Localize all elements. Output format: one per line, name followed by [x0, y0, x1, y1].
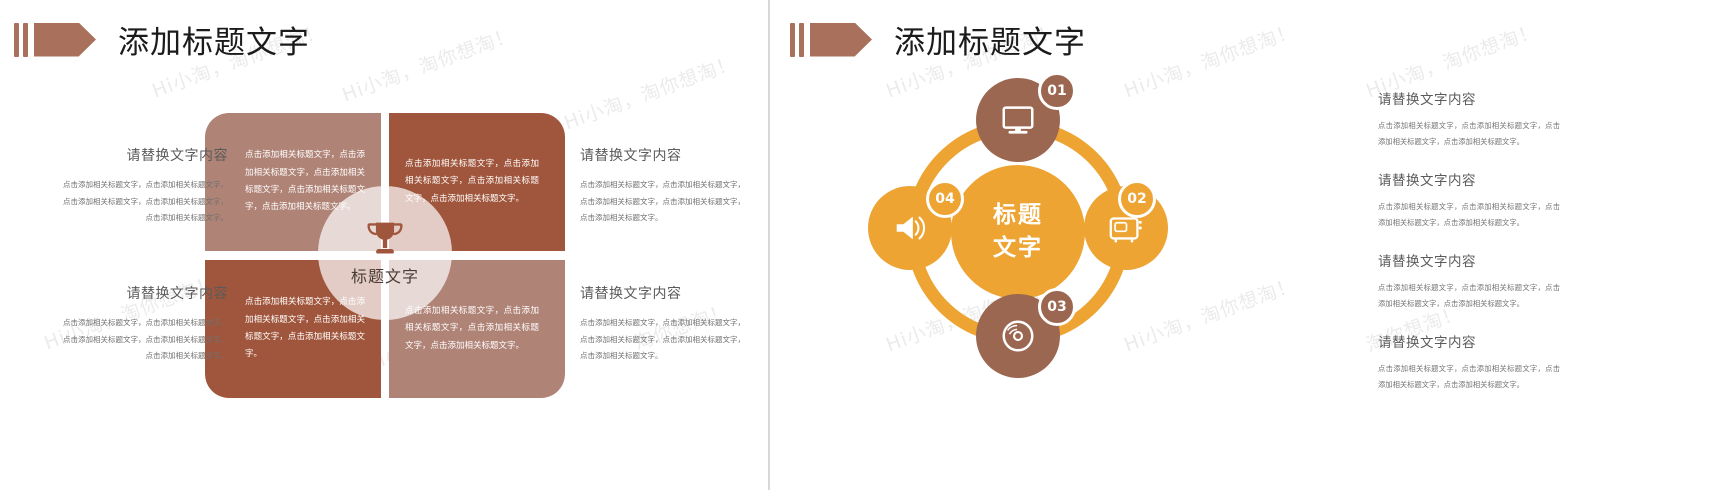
title-arrow-shape [34, 23, 96, 57]
side-heading: 请替换文字内容 [580, 145, 750, 165]
title-accent-bar-2 [23, 23, 28, 57]
slide-left-title-group: 添加标题文字 [14, 17, 310, 62]
title-accent-bar-2 [799, 23, 804, 57]
title-accent-bar-1 [14, 23, 19, 57]
node-badge-04: 04 [926, 180, 964, 218]
side-heading: 请替换文字内容 [58, 283, 228, 303]
watermark: Hi小淘，淘你想淘！ [338, 20, 518, 107]
watermark: Hi小淘，淘你想淘！ [560, 48, 740, 135]
slide-divider [768, 0, 770, 490]
node-badge-03: 03 [1038, 288, 1076, 326]
title-arrow-shape [810, 23, 872, 57]
slide-right: Hi小淘，淘你想淘！ Hi小淘，淘你想淘！ Hi小淘，淘你想淘！ Hi小淘，淘你… [772, 0, 1720, 490]
right-text-column: 请替换文字内容 点击添加相关标题文字，点击添加相关标题文字，点击添加相关标题文字… [1378, 88, 1560, 412]
side-heading: 请替换文字内容 [58, 145, 228, 165]
center-hub-label: 标题文字 [351, 263, 419, 287]
node-badge-02: 02 [1118, 180, 1156, 218]
text-block: 请替换文字内容 点击添加相关标题文字，点击添加相关标题文字，点击添加相关标题文字… [1378, 88, 1560, 150]
text-block-heading: 请替换文字内容 [1378, 169, 1560, 189]
center-hub[interactable]: 标题文字 [318, 186, 452, 320]
center-line-2: 文字 [993, 232, 1043, 265]
monitor-icon [999, 101, 1037, 139]
side-text-right-bottom: 请替换文字内容 点击添加相关标题文字，点击添加相关标题文字，点击添加相关标题文字… [580, 283, 750, 365]
page-title: 添加标题文字 [118, 17, 310, 62]
text-block-body: 点击添加相关标题文字，点击添加相关标题文字，点击添加相关标题文字，点击添加相关标… [1378, 118, 1560, 150]
trophy-icon [363, 219, 407, 259]
text-block-body: 点击添加相关标题文字，点击添加相关标题文字，点击添加相关标题文字，点击添加相关标… [1378, 280, 1560, 312]
circular-diagram: 标题 文字 [868, 78, 1168, 388]
text-block: 请替换文字内容 点击添加相关标题文字，点击添加相关标题文字，点击添加相关标题文字… [1378, 331, 1560, 393]
text-block-heading: 请替换文字内容 [1378, 88, 1560, 108]
center-line-1: 标题 [993, 199, 1043, 232]
speaker-icon [891, 209, 929, 247]
title-accent-bar-1 [790, 23, 795, 57]
text-block: 请替换文字内容 点击添加相关标题文字，点击添加相关标题文字，点击添加相关标题文字… [1378, 250, 1560, 312]
quadrant-body: 点击添加相关标题文字，点击添加相关标题文字，点击添加相关标题文字，点击添加相关标… [405, 303, 549, 355]
text-block-body: 点击添加相关标题文字，点击添加相关标题文字，点击添加相关标题文字，点击添加相关标… [1378, 199, 1560, 231]
page-title: 添加标题文字 [894, 17, 1086, 62]
side-body: 点击添加相关标题文字，点击添加相关标题文字，点击添加相关标题文字，点击添加相关标… [58, 315, 228, 365]
text-block-heading: 请替换文字内容 [1378, 250, 1560, 270]
slide-right-title-group: 添加标题文字 [790, 17, 1086, 62]
side-body: 点击添加相关标题文字，点击添加相关标题文字，点击添加相关标题文字，点击添加相关标… [580, 177, 750, 227]
text-block-heading: 请替换文字内容 [1378, 331, 1560, 351]
slide-deck: Hi小淘，淘你想淘！ Hi小淘，淘你想淘！ Hi小淘，淘你想淘！ Hi小淘，淘你… [0, 0, 1720, 490]
side-body: 点击添加相关标题文字，点击添加相关标题文字，点击添加相关标题文字，点击添加相关标… [58, 177, 228, 227]
text-block: 请替换文字内容 点击添加相关标题文字，点击添加相关标题文字，点击添加相关标题文字… [1378, 169, 1560, 231]
side-text-left-top: 请替换文字内容 点击添加相关标题文字，点击添加相关标题文字，点击添加相关标题文字… [58, 145, 228, 227]
side-heading: 请替换文字内容 [580, 283, 750, 303]
disc-icon [999, 317, 1037, 355]
slide-left: Hi小淘，淘你想淘！ Hi小淘，淘你想淘！ Hi小淘，淘你想淘！ Hi小淘，淘你… [0, 0, 768, 490]
node-badge-01: 01 [1038, 72, 1076, 110]
diagram-center[interactable]: 标题 文字 [951, 165, 1085, 299]
side-text-right-top: 请替换文字内容 点击添加相关标题文字，点击添加相关标题文字，点击添加相关标题文字… [580, 145, 750, 227]
side-body: 点击添加相关标题文字，点击添加相关标题文字，点击添加相关标题文字，点击添加相关标… [580, 315, 750, 365]
side-text-left-bottom: 请替换文字内容 点击添加相关标题文字，点击添加相关标题文字，点击添加相关标题文字… [58, 283, 228, 365]
text-block-body: 点击添加相关标题文字，点击添加相关标题文字，点击添加相关标题文字，点击添加相关标… [1378, 361, 1560, 393]
